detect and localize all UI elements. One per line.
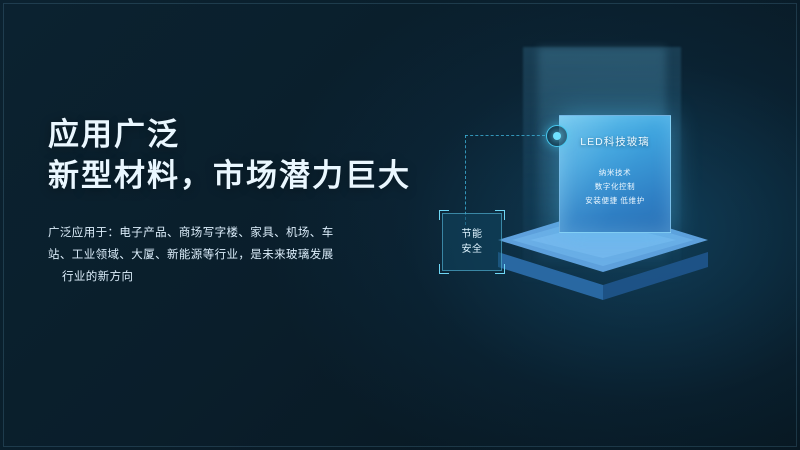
callout-line-2: 安全 [443,242,501,257]
corner-bottom-right-icon [495,264,505,274]
panel-feature-2: 数字化控制 [560,180,670,194]
slide-canvas: 应用广泛 新型材料，市场潜力巨大 广泛应用于：电子产品、商场写字楼、家具、机场、… [0,0,800,450]
headline-line-2: 新型材料，市场潜力巨大 [48,155,411,196]
body-line-3: 行业的新方向 [62,266,378,288]
glass-panel: LED科技玻璃 纳米技术 数字化控制 安装便捷 低维护 [559,115,671,233]
panel-feature-1: 纳米技术 [560,166,670,180]
node-dot-icon [553,132,561,140]
connector-line-vertical [465,135,466,225]
corner-bottom-left-icon [439,264,449,274]
corner-top-left-icon [439,210,449,220]
panel-title: LED科技玻璃 [560,134,670,149]
corner-top-right-icon [495,210,505,220]
panel-feature-list: 纳米技术 数字化控制 安装便捷 低维护 [560,166,670,208]
callout-line-1: 节能 [443,227,501,242]
body-paragraph: 广泛应用于：电子产品、商场写字楼、家具、机场、车 站、工业领域、大厦、新能源等行… [48,222,378,288]
body-line-2: 站、工业领域、大厦、新能源等行业，是未来玻璃发展 [48,244,378,266]
callout-box: 节能 安全 [442,213,502,271]
headline-line-1: 应用广泛 [48,117,180,152]
body-line-1: 广泛应用于：电子产品、商场写字楼、家具、机场、车 [48,222,378,244]
connector-line-horizontal [465,135,545,136]
panel-feature-3: 安装便捷 低维护 [560,194,670,208]
node-marker-icon [546,125,568,147]
page-title: 应用广泛 新型材料，市场潜力巨大 [48,114,411,196]
illustration: LED科技玻璃 纳米技术 数字化控制 安装便捷 低维护 节能 安全 [420,25,800,355]
